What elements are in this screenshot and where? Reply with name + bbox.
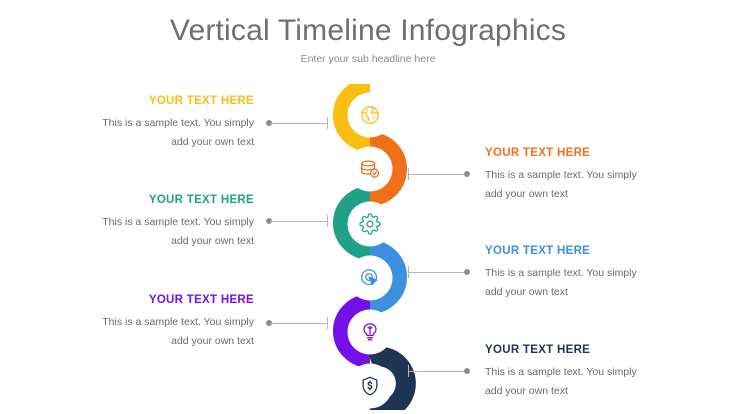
step-badge-2[interactable] xyxy=(351,150,389,188)
connector-4 xyxy=(408,266,470,278)
step-body-5-line2: add your own text xyxy=(58,332,254,351)
step-body-2: This is a sample text. You simply add yo… xyxy=(485,166,685,203)
globe-icon xyxy=(359,104,381,126)
shield-dollar-icon xyxy=(359,375,381,397)
step-body-2-line2: add your own text xyxy=(485,185,685,204)
connector-dot xyxy=(464,368,470,374)
step-badge-1[interactable] xyxy=(351,96,389,134)
step-heading-5: YOUR TEXT HERE xyxy=(58,294,254,306)
connector-1 xyxy=(266,117,328,129)
step-body-2-line1: This is a sample text. You simply xyxy=(485,166,685,185)
step-heading-1: YOUR TEXT HERE xyxy=(58,95,254,107)
step-body-1: This is a sample text. You simply add yo… xyxy=(58,114,254,151)
connector-endbar xyxy=(327,117,328,129)
infographic-slide: Vertical Timeline Infographics Enter you… xyxy=(0,0,736,414)
step-badge-5[interactable] xyxy=(351,313,389,351)
step-text-4: YOUR TEXT HERE This is a sample text. Yo… xyxy=(485,245,685,301)
cursor-target-icon xyxy=(359,267,381,289)
step-body-4-line2: add your own text xyxy=(485,283,685,302)
step-text-1: YOUR TEXT HERE This is a sample text. Yo… xyxy=(58,95,254,151)
step-body-1-line2: add your own text xyxy=(58,133,254,152)
step-heading-2: YOUR TEXT HERE xyxy=(485,147,685,159)
step-body-1-line1: This is a sample text. You simply xyxy=(58,114,254,133)
step-text-5: YOUR TEXT HERE This is a sample text. Yo… xyxy=(58,294,254,350)
step-body-3-line1: This is a sample text. You simply xyxy=(58,213,254,232)
connector-dot xyxy=(464,171,470,177)
step-badge-4[interactable] xyxy=(351,259,389,297)
connector-line xyxy=(270,123,327,124)
step-body-6: This is a sample text. You simply add yo… xyxy=(485,363,685,400)
connector-2 xyxy=(408,168,470,180)
step-body-5-line1: This is a sample text. You simply xyxy=(58,313,254,332)
step-heading-3: YOUR TEXT HERE xyxy=(58,194,254,206)
page-subtitle: Enter your sub headline here xyxy=(0,53,736,65)
connector-dot xyxy=(464,269,470,275)
connector-line xyxy=(270,221,327,222)
gear-icon xyxy=(359,213,381,235)
connector-line xyxy=(409,272,466,273)
page-title: Vertical Timeline Infographics xyxy=(0,14,736,48)
connector-line xyxy=(409,371,466,372)
step-heading-6: YOUR TEXT HERE xyxy=(485,344,685,356)
database-check-icon xyxy=(359,158,381,180)
step-text-2: YOUR TEXT HERE This is a sample text. Yo… xyxy=(485,147,685,203)
step-heading-4: YOUR TEXT HERE xyxy=(485,245,685,257)
step-body-5: This is a sample text. You simply add yo… xyxy=(58,313,254,350)
brain-bulb-icon xyxy=(359,321,381,343)
step-badge-3[interactable] xyxy=(351,205,389,243)
step-text-6: YOUR TEXT HERE This is a sample text. Yo… xyxy=(485,344,685,400)
connector-line xyxy=(270,323,327,324)
step-body-6-line2: add your own text xyxy=(485,382,685,401)
step-text-3: YOUR TEXT HERE This is a sample text. Yo… xyxy=(58,194,254,250)
step-body-4: This is a sample text. You simply add yo… xyxy=(485,264,685,301)
step-body-3: This is a sample text. You simply add yo… xyxy=(58,213,254,250)
connector-endbar xyxy=(327,317,328,329)
connector-3 xyxy=(266,215,328,227)
step-body-3-line2: add your own text xyxy=(58,232,254,251)
step-body-6-line1: This is a sample text. You simply xyxy=(485,363,685,382)
step-body-4-line1: This is a sample text. You simply xyxy=(485,264,685,283)
step-badge-6[interactable] xyxy=(351,367,389,405)
connector-5 xyxy=(266,317,328,329)
connector-line xyxy=(409,174,466,175)
connector-6 xyxy=(408,365,470,377)
connector-endbar xyxy=(327,215,328,227)
